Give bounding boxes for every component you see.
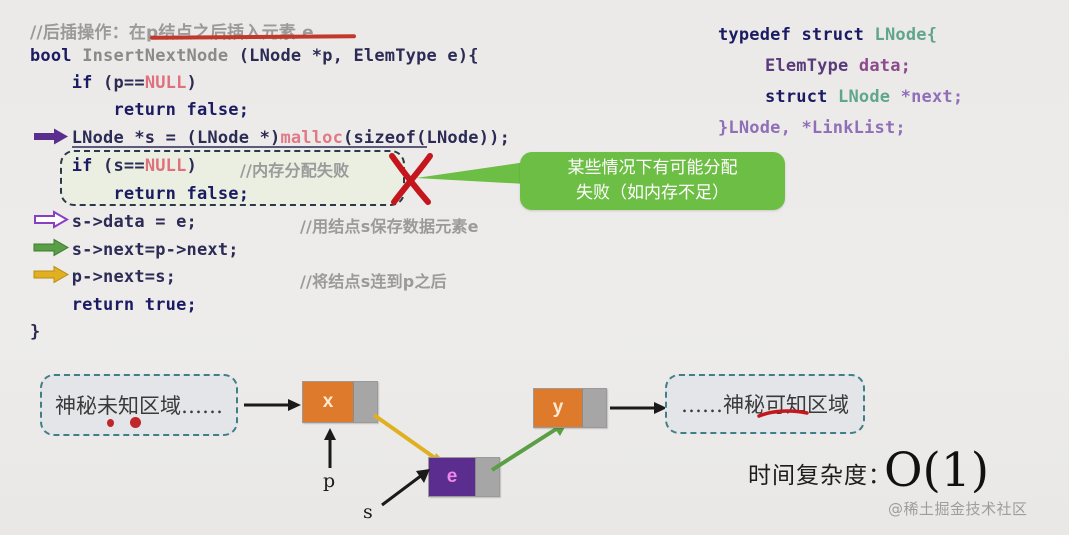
arrow-s-next-icon: [34, 239, 68, 256]
comment-save-elem: //用结点s保存数据元素e: [300, 213, 479, 237]
indent: [30, 295, 72, 315]
return-true-stmt: return true;: [72, 295, 197, 315]
arrow-y-to-region: [610, 401, 668, 415]
code-line-return-true: return true;: [30, 295, 197, 315]
arrow-s-data-icon: [34, 211, 68, 228]
indent: [30, 100, 113, 120]
title-underline-annotation: [150, 34, 356, 39]
label-p: p: [323, 470, 335, 492]
function-name: InsertNextNode: [82, 46, 239, 66]
macro-null: NULL: [145, 156, 187, 176]
region-right-known: ……神秘可知区域: [665, 374, 865, 434]
node-x: x: [302, 381, 378, 423]
watermark: @稀土掘金技术社区: [888, 498, 1028, 519]
arrow-malloc-icon: [34, 128, 68, 145]
arrow-p-pointer: [322, 428, 338, 468]
arrow-s-pointer: [378, 467, 432, 509]
arrow-p-next-icon: [34, 266, 68, 283]
red-dot-small: [107, 419, 114, 427]
node-y-data: y: [534, 389, 582, 427]
struct-line-4: }LNode, *LinkList;: [718, 118, 906, 138]
arrow-region-to-x: [244, 398, 302, 412]
malloc-underline-annotation: [72, 144, 452, 150]
slide-canvas: //后插操作：在p结点之后插入元素 e bool InsertNextNode …: [0, 0, 1069, 535]
indent: [30, 184, 113, 204]
complexity-label: 时间复杂度：: [748, 456, 892, 490]
node-y-pointer: [582, 389, 606, 427]
paren-close: ): [187, 156, 197, 176]
callout-line-1: 某些情况下有可能分配: [568, 156, 738, 181]
struct-name: LNode{: [875, 25, 938, 45]
macro-null: NULL: [145, 73, 187, 93]
node-e-data: e: [429, 458, 475, 496]
comment-link-after: //将结点s连到p之后: [300, 268, 447, 292]
close-brace: }: [30, 322, 40, 342]
code-line-signature: bool InsertNextNode (LNode *p, ElemType …: [30, 46, 479, 66]
code-line-if-p-null: if (p==NULL): [30, 73, 197, 93]
region-left-label: 神秘未知区域……: [55, 390, 223, 420]
cond-p: (p==: [93, 73, 145, 93]
comment-mem-fail: //内存分配失败: [240, 157, 349, 181]
red-dot-large: [130, 417, 141, 428]
struct-line-3: struct LNode *next;: [765, 87, 963, 107]
function-params: (LNode *p, ElemType e){: [239, 46, 479, 66]
struct-type-lnode: LNode: [838, 87, 901, 107]
keyword-bool: bool: [30, 46, 82, 66]
member-type-elemtype: ElemType: [765, 56, 859, 76]
callout-tail: [416, 160, 526, 186]
label-s: s: [363, 501, 373, 523]
node-x-data: x: [303, 382, 353, 422]
node-y: y: [533, 388, 607, 428]
indent: [30, 73, 72, 93]
callout-line-2: 失败（如内存不足）: [576, 181, 729, 206]
return-false-stmt: return false;: [113, 100, 249, 120]
indent: [30, 156, 72, 176]
callout-box-alloc-failure: 某些情况下有可能分配 失败（如内存不足）: [520, 152, 785, 210]
member-data: data;: [859, 56, 911, 76]
region-right-underline-annotation: [759, 409, 811, 419]
struct-keyword: struct: [765, 87, 838, 107]
return-false-stmt: return false;: [113, 184, 249, 204]
typedef-struct-keyword: typedef struct: [718, 25, 875, 45]
code-line-return-false-1: return false;: [30, 100, 249, 120]
complexity-value: O(1): [884, 443, 989, 498]
code-line-if-s-null: if (s==NULL): [30, 156, 197, 176]
cond-s: (s==: [93, 156, 145, 176]
struct-line-2: ElemType data;: [765, 56, 911, 76]
code-line-close-brace: }: [30, 322, 40, 342]
paren-close: ): [187, 73, 197, 93]
struct-line-1: typedef struct LNode{: [718, 25, 937, 45]
member-next: *next;: [901, 87, 964, 107]
keyword-if: if: [72, 156, 93, 176]
code-line-return-false-2: return false;: [30, 184, 249, 204]
keyword-if: if: [72, 73, 93, 93]
